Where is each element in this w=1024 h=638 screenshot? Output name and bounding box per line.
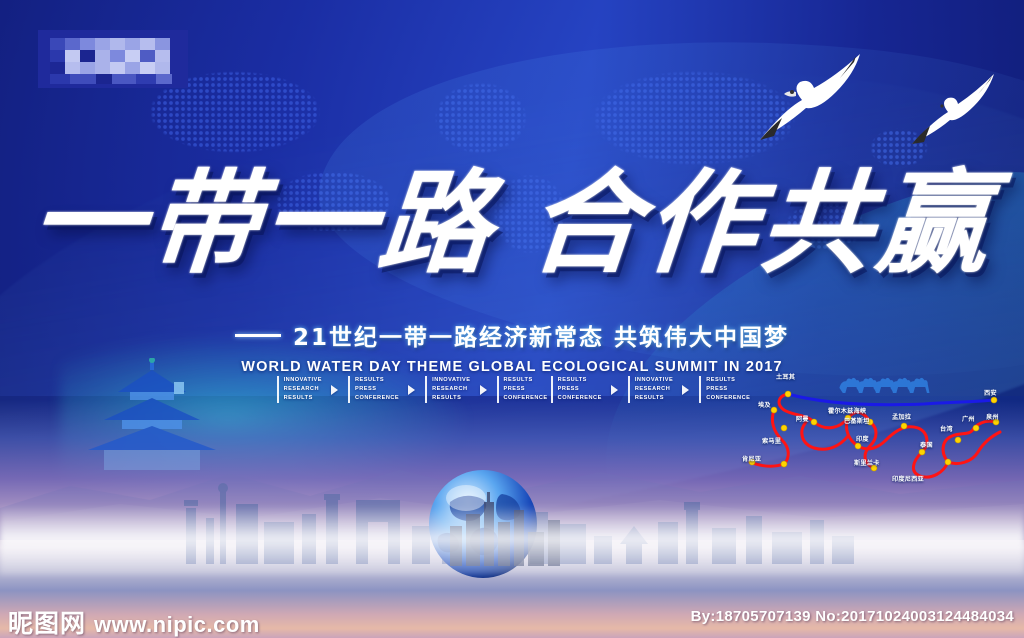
page-title: 一带一路合作共赢	[0, 168, 1024, 280]
keyword-line: RESEARCH	[432, 385, 470, 394]
seagull-icon-left	[744, 48, 874, 146]
keyword-line: PRESS	[504, 385, 548, 394]
keyword-line: RESULTS	[355, 376, 399, 385]
map-label: 土耳其	[776, 372, 795, 381]
keyword-block: INNOVATIVE RESEARCH RESULTS	[422, 376, 493, 403]
map-label: 霍尔木兹海峡	[828, 406, 866, 415]
arrow-right-icon	[408, 385, 415, 395]
map-label: 孟加拉	[892, 412, 911, 421]
credit-line: By:18705707139 No:20171024003124484034	[691, 608, 1014, 625]
watermark: 昵图网 www.nipic.com	[8, 604, 260, 638]
map-label: 印度	[856, 434, 869, 443]
keyword-line: RESULTS	[504, 376, 548, 385]
silk-road-map: 土耳其 埃及 阿曼 索马里 肯尼亚 霍尔木兹海峡 巴基斯坦 印度 斯里兰卡 孟加…	[744, 370, 1024, 482]
keyword-line: RESEARCH	[635, 385, 673, 394]
arrow-right-icon	[480, 385, 487, 395]
map-label: 广州	[962, 414, 975, 423]
map-label: 阿曼	[796, 414, 809, 423]
keyword-block: INNOVATIVE RESEARCH RESULTS	[274, 376, 345, 403]
mosaic-logo-placeholder	[38, 30, 188, 88]
map-label: 斯里兰卡	[854, 458, 880, 467]
keyword-line: CONFERENCE	[355, 394, 399, 403]
keyword-line: INNOVATIVE	[635, 376, 673, 385]
keyword-text: RESULTS PRESS CONFERENCE	[699, 376, 750, 403]
map-label: 埃及	[758, 400, 771, 409]
keyword-block: RESULTS PRESS CONFERENCE	[548, 376, 625, 403]
watermark-url: www.nipic.com	[94, 612, 260, 638]
keyword-line: INNOVATIVE	[432, 376, 470, 385]
keyword-line: PRESS	[355, 385, 399, 394]
sea-route-line	[788, 394, 994, 405]
keyword-line: RESULTS	[635, 394, 673, 403]
silk-road-routes	[744, 370, 1024, 482]
keyword-line: INNOVATIVE	[284, 376, 322, 385]
map-label: 台湾	[940, 424, 953, 433]
seagull-icon-right	[898, 70, 1004, 150]
subtitle-chinese-row: 21世纪一带一路经济新常态 共筑伟大中国梦	[235, 318, 789, 352]
keyword-line: CONFERENCE	[558, 394, 602, 403]
camel-caravan-icon	[839, 378, 929, 393]
map-label: 巴基斯坦	[844, 416, 870, 425]
map-label: 索马里	[762, 436, 781, 445]
keyword-block: INNOVATIVE RESEARCH RESULTS	[625, 376, 696, 403]
arrow-right-icon	[331, 385, 338, 395]
keyword-line: RESULTS	[558, 376, 602, 385]
arrow-right-icon	[682, 385, 689, 395]
keyword-text: RESULTS PRESS CONFERENCE	[551, 376, 602, 403]
subtitle-block: 21世纪一带一路经济新常态 共筑伟大中国梦 WORLD WATER DAY TH…	[0, 318, 1024, 375]
headline-left: 一带一路	[25, 159, 500, 289]
keyword-text: INNOVATIVE RESEARCH RESULTS	[277, 376, 322, 403]
keyword-line: RESULTS	[284, 394, 322, 403]
keyword-block: RESULTS PRESS CONFERENCE	[696, 376, 750, 403]
subtitle-chinese: 21世纪一带一路经济新常态 共筑伟大中国梦	[293, 318, 789, 352]
keyword-line: CONFERENCE	[504, 394, 548, 403]
watermark-chinese: 昵图网	[8, 604, 86, 638]
poster-canvas: 一带一路合作共赢 21世纪一带一路经济新常态 共筑伟大中国梦 WORLD WAT…	[0, 0, 1024, 638]
keyword-text: INNOVATIVE RESEARCH RESULTS	[628, 376, 673, 403]
dash-rule	[235, 334, 281, 337]
map-label: 西安	[984, 388, 997, 397]
keyword-text: RESULTS PRESS CONFERENCE	[497, 376, 548, 403]
keyword-text: INNOVATIVE RESEARCH RESULTS	[425, 376, 470, 403]
keyword-text: RESULTS PRESS CONFERENCE	[348, 376, 399, 403]
headline-right: 合作共赢	[523, 159, 998, 289]
map-label: 泉州	[986, 412, 999, 421]
keyword-line: RESULTS	[432, 394, 470, 403]
map-label: 泰国	[920, 440, 933, 449]
keyword-block: RESULTS PRESS CONFERENCE	[345, 376, 422, 403]
horizon-mist	[0, 505, 1024, 575]
keyword-line: RESEARCH	[284, 385, 322, 394]
map-label: 印度尼西亚	[892, 474, 924, 483]
map-label: 肯尼亚	[742, 454, 761, 463]
keyword-line: PRESS	[558, 385, 602, 394]
arrow-right-icon	[611, 385, 618, 395]
keyword-block: RESULTS PRESS CONFERENCE	[494, 376, 548, 403]
